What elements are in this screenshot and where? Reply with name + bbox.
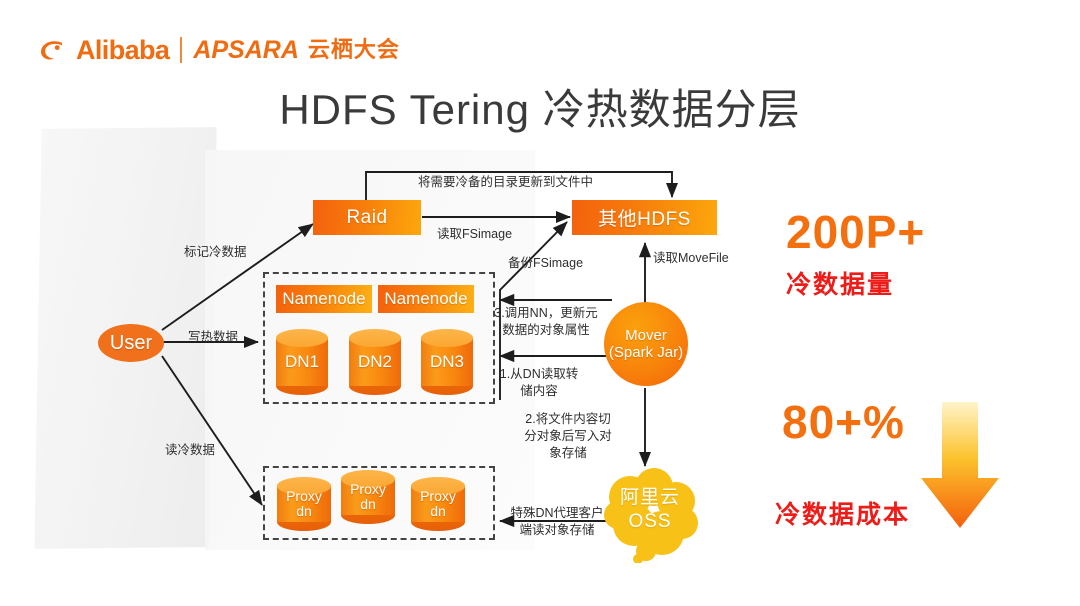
edge-label-step2: 2.将文件内容切分对象后写入对象存储	[520, 411, 616, 462]
node-proxy-dn-1[interactable]: Proxy dn	[277, 477, 331, 531]
edge-label-proxy-oss: 特殊DN代理客户端读对象存储	[505, 505, 609, 539]
node-dn2-label: DN2	[349, 329, 401, 395]
node-raid-label: Raid	[346, 207, 387, 229]
node-other-hdfs-label: 其他HDFS	[598, 204, 691, 231]
oss-label-line2: OSS	[628, 510, 671, 534]
node-user[interactable]: User	[98, 324, 164, 362]
edge-label-mark-cold: 标记冷数据	[184, 244, 247, 261]
edge-label-read-fsimage: 读取FSimage	[437, 226, 512, 243]
stat-value-2: 80+%	[782, 395, 905, 449]
node-namenode-2[interactable]: Namenode	[378, 285, 474, 313]
edge-label-write-hot: 写热数据	[188, 329, 238, 346]
node-mover-sublabel: (Spark Jar)	[609, 344, 683, 361]
node-proxy-dn-1-label: Proxy dn	[277, 477, 331, 531]
node-proxy-dn-3[interactable]: Proxy dn	[411, 477, 465, 531]
edge-label-update-dirs: 将需要冷备的目录更新到文件中	[418, 174, 593, 191]
node-dn3[interactable]: DN3	[421, 329, 473, 395]
node-dn1-label: DN1	[276, 329, 328, 395]
stat-caption-1: 冷数据量	[786, 265, 894, 301]
proxy-dn-3-line1: Proxy	[420, 489, 456, 504]
node-namenode-1[interactable]: Namenode	[276, 285, 372, 313]
proxy-dn-2-line1: Proxy	[350, 482, 386, 497]
node-other-hdfs[interactable]: 其他HDFS	[572, 200, 717, 235]
node-dn3-label: DN3	[421, 329, 473, 395]
node-mover[interactable]: Mover (Spark Jar)	[604, 302, 688, 386]
node-user-label: User	[110, 332, 152, 355]
node-namenode-1-label: Namenode	[282, 289, 365, 309]
node-namenode-2-label: Namenode	[384, 289, 467, 309]
edge-label-read-cold: 读冷数据	[165, 442, 215, 459]
slide-canvas: Alibaba APSARA 云栖大会 HDFS Tering 冷热数据分层	[0, 0, 1080, 606]
stat-value-1: 200P+	[786, 205, 925, 259]
proxy-dn-1-line1: Proxy	[286, 489, 322, 504]
stat-caption-2: 冷数据成本	[775, 495, 910, 531]
node-dn1[interactable]: DN1	[276, 329, 328, 395]
down-arrow-icon	[921, 402, 999, 528]
node-proxy-dn-3-label: Proxy dn	[411, 477, 465, 531]
proxy-dn-2-line2: dn	[360, 497, 376, 512]
node-aliyun-oss[interactable]: 阿里云 OSS	[596, 463, 704, 563]
proxy-dn-1-line2: dn	[296, 504, 312, 519]
node-mover-label: Mover	[625, 327, 667, 344]
proxy-dn-3-line2: dn	[430, 504, 446, 519]
node-dn2[interactable]: DN2	[349, 329, 401, 395]
node-raid[interactable]: Raid	[313, 200, 421, 235]
edge-label-step1: 1.从DN读取转储内容	[494, 366, 584, 400]
node-proxy-dn-2[interactable]: Proxy dn	[341, 470, 395, 524]
node-oss-label: 阿里云 OSS	[596, 463, 704, 563]
edge-label-read-movefile: 读取MoveFile	[653, 250, 729, 267]
edge-label-step3: 3.调用NN，更新元数据的对象属性	[494, 305, 598, 339]
oss-label-line1: 阿里云	[620, 486, 680, 510]
node-proxy-dn-2-label: Proxy dn	[341, 470, 395, 524]
edge-label-backup-fsimage: 备份FSimage	[508, 255, 583, 272]
